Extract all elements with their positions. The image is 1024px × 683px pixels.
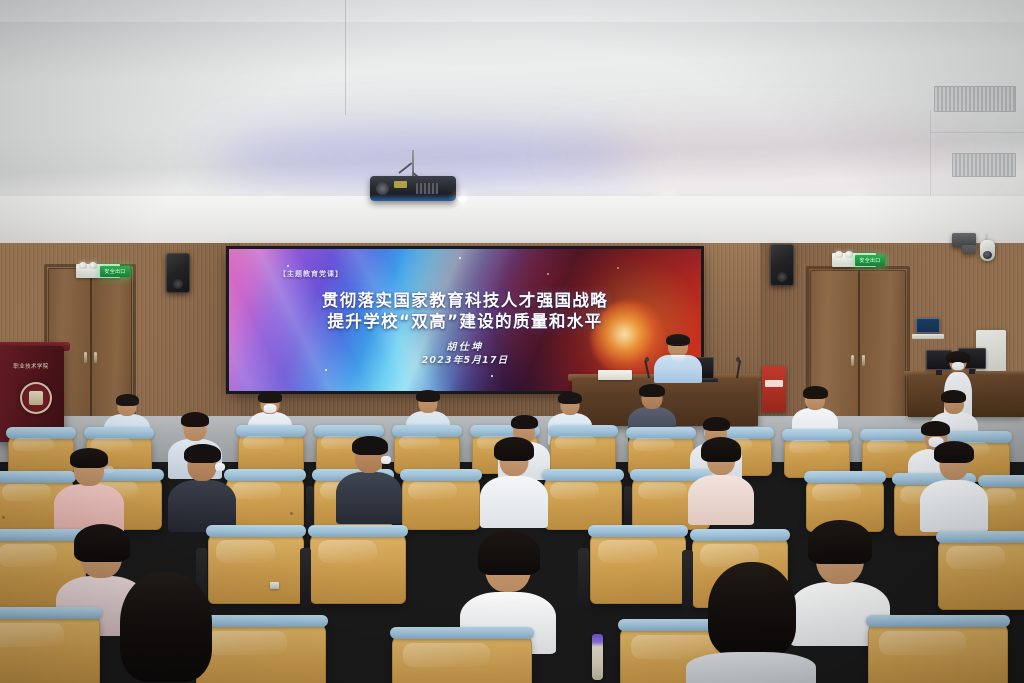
ceiling-soffit bbox=[0, 196, 1024, 248]
surveillance-camera bbox=[980, 240, 995, 261]
glasses bbox=[670, 344, 687, 348]
seat[interactable] bbox=[402, 474, 480, 530]
slide-title-line1: 贯彻落实国家教育科技人才强国战略 bbox=[229, 290, 701, 311]
fire-equipment-cabinet bbox=[762, 366, 786, 412]
seat[interactable] bbox=[310, 530, 406, 604]
presenter bbox=[654, 336, 702, 382]
slide-category-tag: 【主题教育党课】 bbox=[279, 269, 343, 279]
ceiling-equipment-box bbox=[962, 245, 976, 254]
ceiling-air-vent bbox=[952, 153, 1016, 177]
seat[interactable] bbox=[226, 474, 304, 530]
school-emblem bbox=[20, 382, 52, 414]
slide-title: 贯彻落实国家教育科技人才强国战略 提升学校“双高”建设的质量和水平 bbox=[229, 290, 701, 332]
attendee-row-b-2 bbox=[168, 448, 236, 528]
attendee-row-b-5 bbox=[688, 442, 754, 522]
ceiling-air-vent bbox=[934, 86, 1016, 112]
attendee-row-d-2 bbox=[686, 566, 816, 683]
projector-indicator bbox=[458, 196, 467, 202]
exit-sign-left: 安全出口 bbox=[100, 266, 130, 277]
attendee-row-d-1 bbox=[96, 576, 236, 683]
seat[interactable] bbox=[392, 632, 532, 683]
lectern-institution-text: 职业技术学院 bbox=[0, 362, 62, 371]
attendee-row-b-3 bbox=[336, 440, 402, 520]
attendee-row-b-4 bbox=[480, 442, 548, 524]
seat[interactable] bbox=[868, 620, 1008, 683]
seat[interactable] bbox=[0, 612, 100, 683]
attendee-row-b-1 bbox=[54, 452, 124, 530]
attendee-row-b-6 bbox=[920, 446, 988, 528]
slide-date: 2023年5月17日 bbox=[229, 352, 701, 366]
seat[interactable] bbox=[550, 430, 616, 474]
slide-presenter-name: 胡仕坤 bbox=[229, 338, 701, 353]
exit-sign-right: 安全出口 bbox=[855, 255, 885, 266]
ceiling bbox=[0, 0, 1024, 245]
seat[interactable] bbox=[544, 474, 622, 530]
water-bottle[interactable] bbox=[592, 634, 603, 680]
podium-nameplate bbox=[598, 370, 632, 380]
seat[interactable] bbox=[238, 430, 304, 474]
seat[interactable] bbox=[590, 530, 686, 604]
camera-lens bbox=[983, 251, 992, 259]
right-wall-speaker bbox=[770, 244, 794, 286]
left-wall-speaker bbox=[166, 253, 190, 293]
seat[interactable] bbox=[394, 430, 460, 474]
ceiling-projector bbox=[370, 176, 456, 201]
projector-lens bbox=[376, 182, 389, 195]
seat[interactable] bbox=[938, 536, 1024, 610]
lecture-hall-photo: 安全出口 安全出口 【主题教育党课】 贯彻落实 bbox=[0, 0, 1024, 683]
slide-title-line2: 提升学校“双高”建设的质量和水平 bbox=[229, 311, 701, 332]
wall-display-panel[interactable] bbox=[916, 318, 940, 333]
